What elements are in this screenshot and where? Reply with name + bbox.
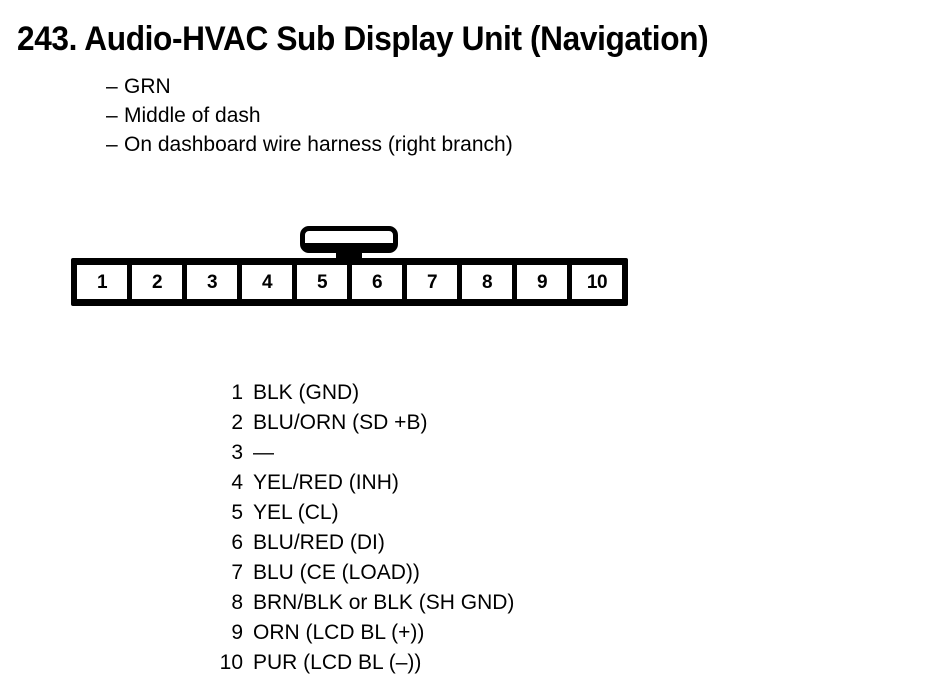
pin-cell-6: 6 xyxy=(352,265,402,299)
page-title: 243. Audio-HVAC Sub Display Unit (Naviga… xyxy=(17,19,708,59)
pin-legend-label: BLK (GND) xyxy=(243,378,359,408)
pin-legend-number: 1 xyxy=(150,378,243,408)
pin-legend-row: 6 BLU/RED (DI) xyxy=(150,528,514,558)
note-item: –On dashboard wire harness (right branch… xyxy=(106,130,513,159)
pin-legend-label: BLU/ORN (SD +B) xyxy=(243,408,427,438)
pin-legend-label: YEL/RED (INH) xyxy=(243,468,399,498)
pin-legend-row: 4 YEL/RED (INH) xyxy=(150,468,514,498)
pin-legend-number: 9 xyxy=(150,618,243,648)
note-dash-icon: – xyxy=(106,130,124,159)
pin-cell-4: 4 xyxy=(242,265,292,299)
pin-legend-number: 7 xyxy=(150,558,243,588)
pin-legend-number: 6 xyxy=(150,528,243,558)
pin-legend-row: 8 BRN/BLK or BLK (SH GND) xyxy=(150,588,514,618)
latch-shoulder-right xyxy=(362,243,393,248)
note-item: –GRN xyxy=(106,72,513,101)
pin-cell-1: 1 xyxy=(77,265,127,299)
pin-legend-number: 4 xyxy=(150,468,243,498)
latch-shoulder-left xyxy=(305,243,336,248)
pin-legend-number: 10 xyxy=(150,648,243,678)
pin-legend-list: 1 BLK (GND) 2 BLU/ORN (SD +B) 3 — 4 YEL/… xyxy=(150,378,514,678)
pin-legend-row: 10 PUR (LCD BL (–)) xyxy=(150,648,514,678)
pin-legend-number: 3 xyxy=(150,438,243,468)
latch-stem xyxy=(336,243,362,259)
pin-legend-row: 5 YEL (CL) xyxy=(150,498,514,528)
connector-diagram: 1 2 3 4 5 6 7 8 9 10 xyxy=(71,226,631,308)
note-item-label: Middle of dash xyxy=(124,104,261,127)
pin-cell-2: 2 xyxy=(132,265,182,299)
pin-legend-label: BLU/RED (DI) xyxy=(243,528,385,558)
pin-legend-row: 1 BLK (GND) xyxy=(150,378,514,408)
pin-legend-row: 3 — xyxy=(150,438,514,468)
pin-cell-8: 8 xyxy=(462,265,512,299)
pin-legend-number: 5 xyxy=(150,498,243,528)
note-item-label: GRN xyxy=(124,75,171,98)
pin-legend-number: 8 xyxy=(150,588,243,618)
pin-legend-row: 2 BLU/ORN (SD +B) xyxy=(150,408,514,438)
note-item: –Middle of dash xyxy=(106,101,513,130)
connector-body: 1 2 3 4 5 6 7 8 9 10 xyxy=(71,258,628,306)
pin-legend-label: BRN/BLK or BLK (SH GND) xyxy=(243,588,514,618)
pin-legend-label: ORN (LCD BL (+)) xyxy=(243,618,424,648)
pin-cell-9: 9 xyxy=(517,265,567,299)
pin-cell-7: 7 xyxy=(407,265,457,299)
note-dash-icon: – xyxy=(106,72,124,101)
pin-legend-label: PUR (LCD BL (–)) xyxy=(243,648,421,678)
pin-cell-5: 5 xyxy=(297,265,347,299)
pin-legend-label: YEL (CL) xyxy=(243,498,339,528)
pin-cell-10: 10 xyxy=(572,265,622,299)
notes-list: –GRN –Middle of dash –On dashboard wire … xyxy=(106,72,513,159)
pin-legend-label: BLU (CE (LOAD)) xyxy=(243,558,420,588)
pin-legend-label: — xyxy=(243,438,274,468)
pin-cell-3: 3 xyxy=(187,265,237,299)
pin-legend-row: 7 BLU (CE (LOAD)) xyxy=(150,558,514,588)
pin-legend-row: 9 ORN (LCD BL (+)) xyxy=(150,618,514,648)
connector-latch-tab-icon xyxy=(300,226,398,254)
pin-legend-number: 2 xyxy=(150,408,243,438)
note-dash-icon: – xyxy=(106,101,124,130)
note-item-label: On dashboard wire harness (right branch) xyxy=(124,133,513,156)
